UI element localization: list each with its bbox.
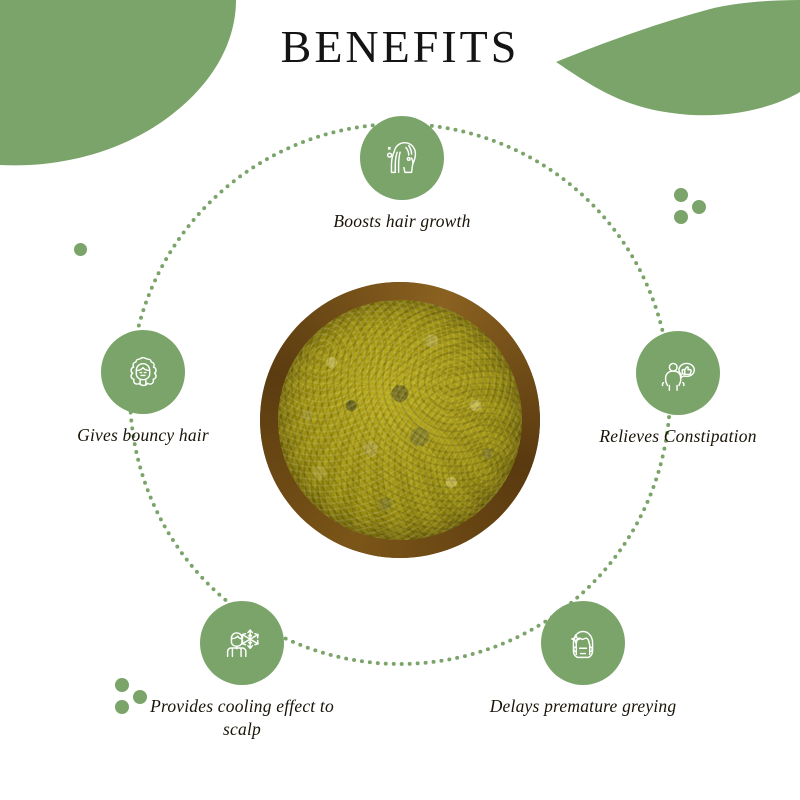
dot <box>115 700 129 714</box>
benefit-icon-bubble[interactable] <box>200 601 284 685</box>
digestion-thumbs-up-icon <box>655 350 701 396</box>
benefit-label: Delays premature greying <box>483 695 683 718</box>
benefit-icon-bubble[interactable] <box>101 330 185 414</box>
dot-cluster-top-right <box>672 186 718 232</box>
benefit-label: Relieves Constipation <box>578 425 778 448</box>
benefit-node-provides-cooling-effect-to-scalp[interactable]: Provides cooling effect to scalp <box>142 601 342 741</box>
hair-growth-icon <box>379 135 425 181</box>
benefit-node-delays-premature-greying[interactable]: Delays premature greying <box>483 601 683 718</box>
benefits-infographic: BENEFITS <box>0 0 800 800</box>
single-dot-left <box>74 243 87 256</box>
dot <box>674 188 688 202</box>
person-snowflake-icon <box>219 620 265 666</box>
dot <box>674 210 688 224</box>
benefit-label: Provides cooling effect to scalp <box>142 695 342 741</box>
powder-grain-texture <box>278 300 522 540</box>
benefit-label: Gives bouncy hair <box>43 424 243 447</box>
henna-powder-bowl-image <box>260 282 540 558</box>
benefit-node-relieves-constipation[interactable]: Relieves Constipation <box>578 331 778 448</box>
curly-hair-face-icon <box>120 349 166 395</box>
dot <box>692 200 706 214</box>
benefit-node-gives-bouncy-hair[interactable]: Gives bouncy hair <box>43 330 243 447</box>
benefit-icon-bubble[interactable] <box>636 331 720 415</box>
face-sparkle-hair-icon <box>560 620 606 666</box>
dot <box>115 678 129 692</box>
benefit-icon-bubble[interactable] <box>541 601 625 685</box>
benefit-icon-bubble[interactable] <box>360 116 444 200</box>
page-title: BENEFITS <box>0 24 800 70</box>
benefit-label: Boosts hair growth <box>302 210 502 233</box>
benefit-node-boosts-hair-growth[interactable]: Boosts hair growth <box>302 116 502 233</box>
